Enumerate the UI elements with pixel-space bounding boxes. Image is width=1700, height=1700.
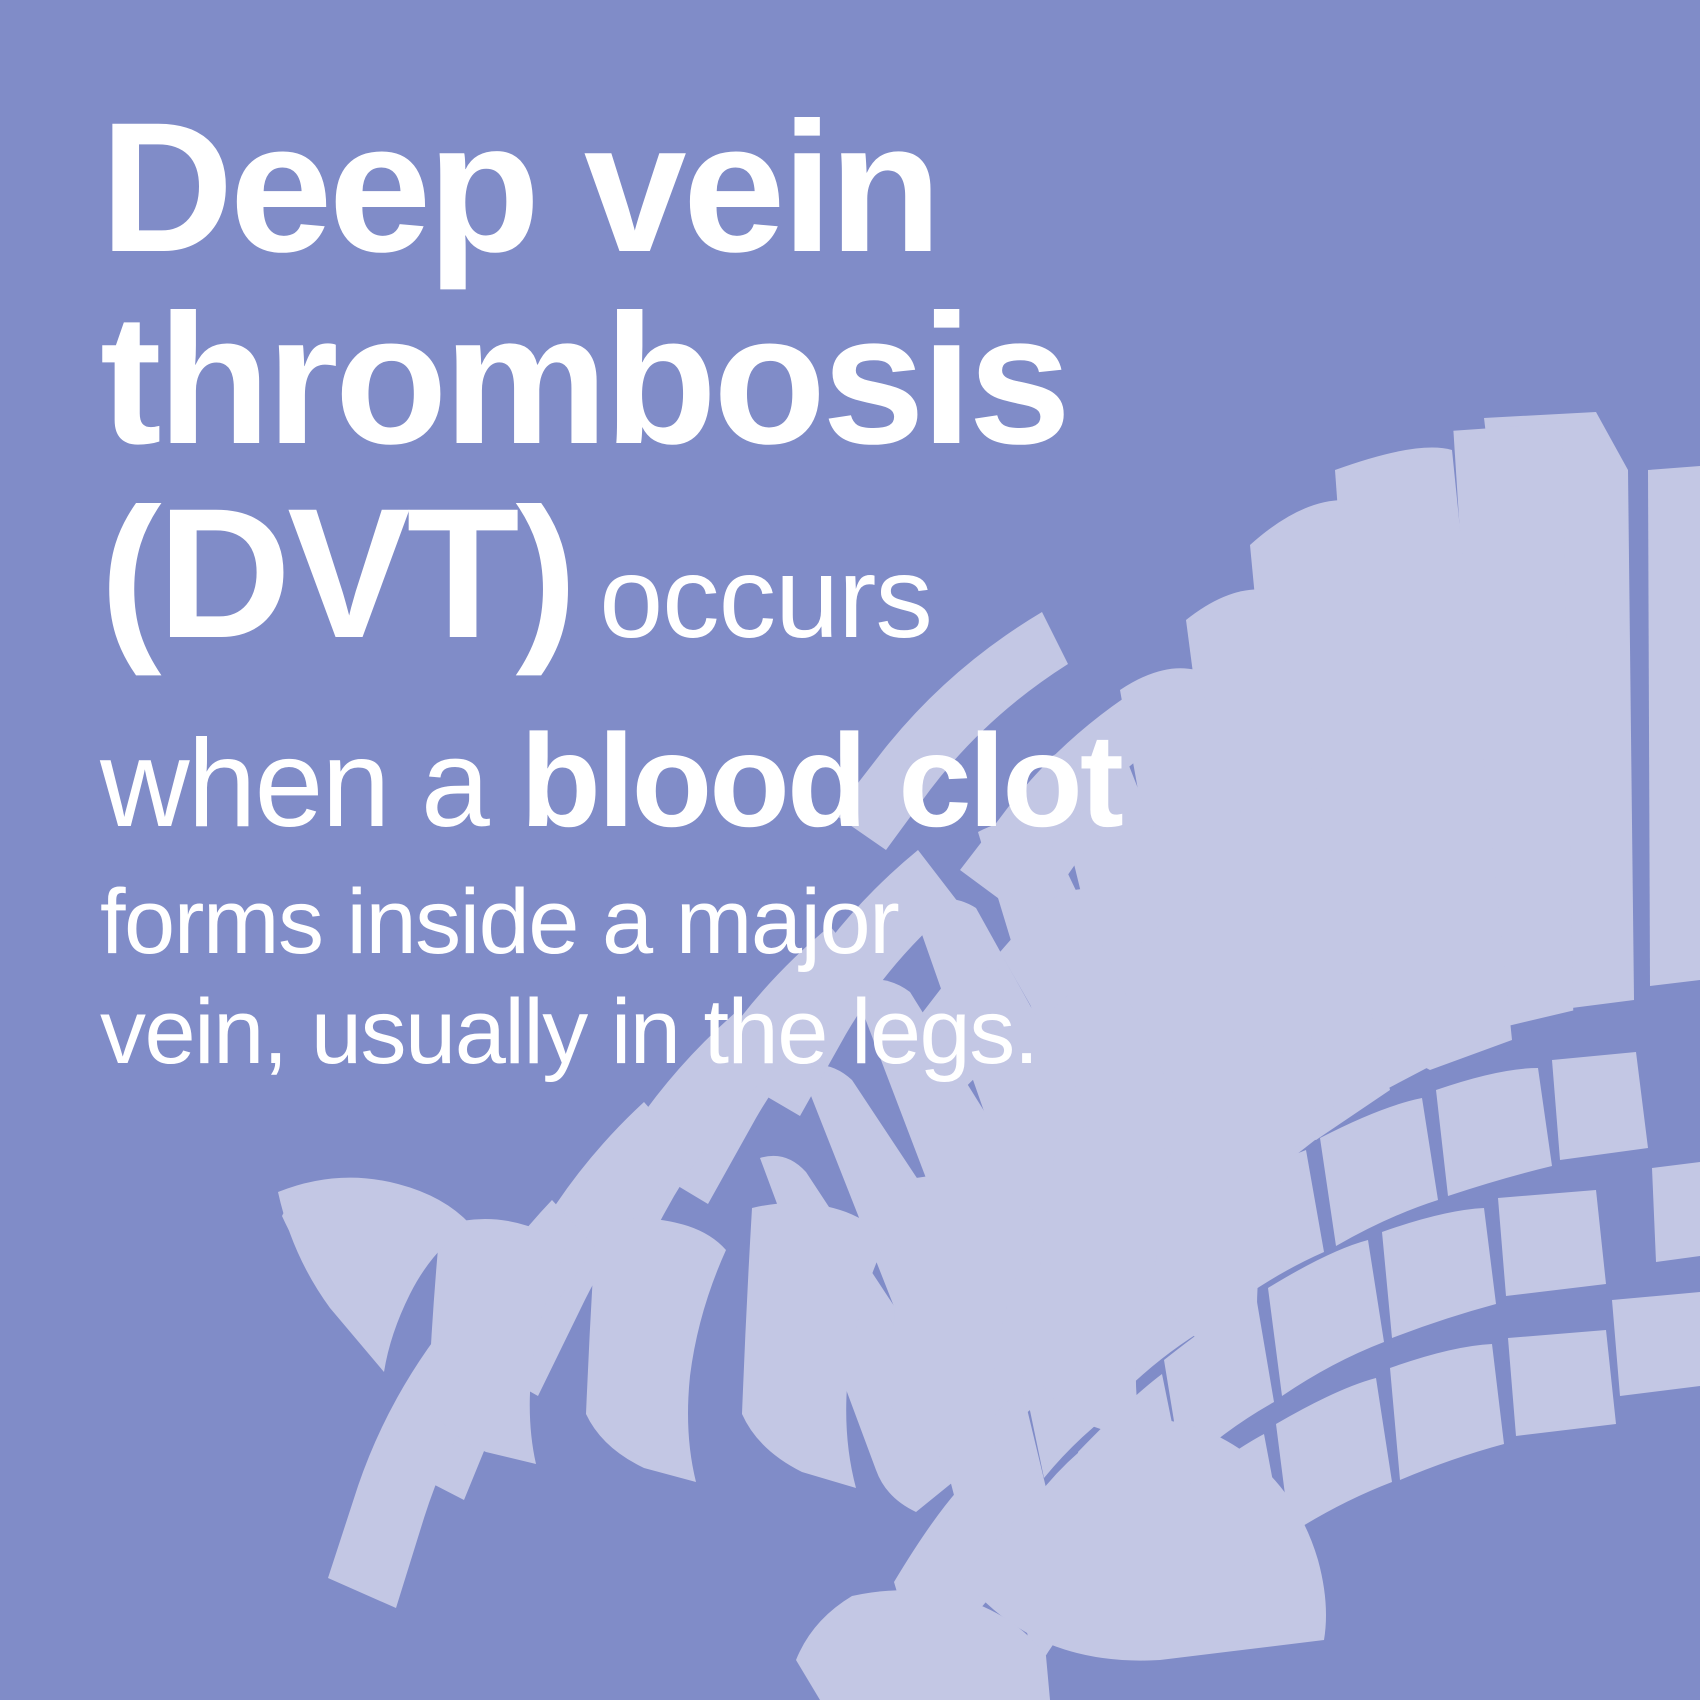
body-blood-clot-emphasis: blood clot xyxy=(520,707,1121,854)
dvt-info-card: Deep vein thrombosis (DVT)occurs when a … xyxy=(0,0,1700,1700)
body-line-5: forms inside a major xyxy=(100,867,1220,977)
body-when-a: when a xyxy=(100,715,488,853)
headline-text-block: Deep vein thrombosis (DVT)occurs when a … xyxy=(100,92,1220,1087)
body-line-6: vein, usually in the legs. xyxy=(100,977,1220,1087)
headline-occurs-word: occurs xyxy=(573,534,932,662)
headline-abbreviation: (DVT) xyxy=(100,471,573,677)
headline-line-3: (DVT)occurs xyxy=(100,476,1220,696)
headline-line-2: thrombosis xyxy=(100,284,1220,476)
headline-line-1: Deep vein xyxy=(100,92,1220,284)
body-line-4: when a blood clot xyxy=(100,706,1220,859)
